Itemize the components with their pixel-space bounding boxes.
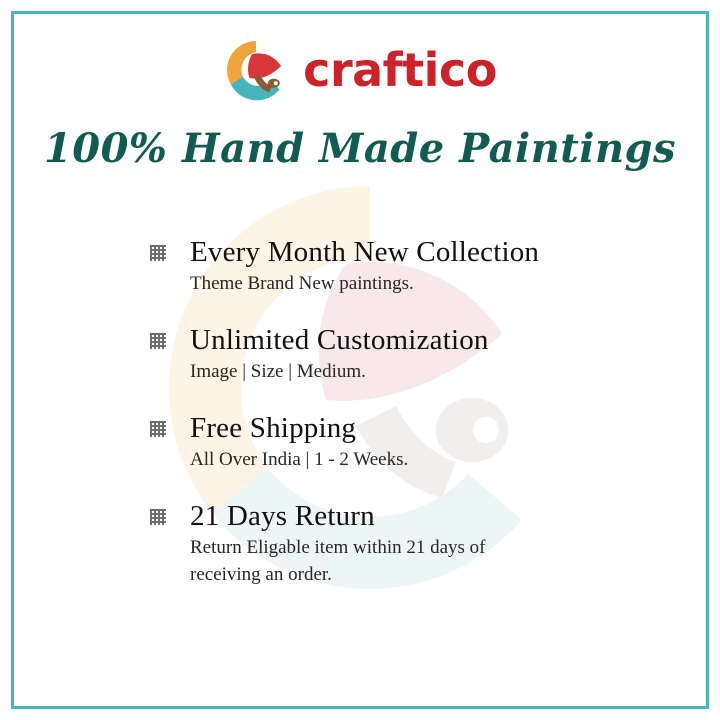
brand-logo: craftico	[0, 34, 720, 106]
page-title: 100% Hand Made Paintings	[0, 127, 720, 171]
brand-wordmark: craftico	[303, 47, 497, 93]
woven-grid-bullet-icon	[148, 331, 168, 351]
list-item: 21 Days Return Return Eligable item with…	[146, 500, 616, 589]
list-item: Every Month New Collection Theme Brand N…	[146, 236, 616, 298]
feature-description: All Over India | 1 - 2 Weeks.	[190, 447, 550, 474]
feature-description: Theme Brand New paintings.	[190, 271, 550, 298]
feature-title: Every Month New Collection	[190, 236, 616, 269]
woven-grid-bullet-icon	[148, 419, 168, 439]
woven-grid-bullet-icon	[148, 243, 168, 263]
feature-title: Free Shipping	[190, 412, 616, 445]
feature-title: Unlimited Customization	[190, 324, 616, 357]
feature-description: Image | Size | Medium.	[190, 359, 550, 386]
craftico-c-paintbrush-logo-icon	[223, 37, 289, 103]
list-item: Free Shipping All Over India | 1 - 2 Wee…	[146, 412, 616, 474]
promo-banner: craftico 100% Hand Made Paintings Every …	[0, 0, 720, 720]
woven-grid-bullet-icon	[148, 507, 168, 527]
feature-description: Return Eligable item within 21 days of r…	[190, 535, 550, 589]
list-item: Unlimited Customization Image | Size | M…	[146, 324, 616, 386]
feature-title: 21 Days Return	[190, 500, 616, 533]
feature-list: Every Month New Collection Theme Brand N…	[146, 236, 616, 589]
